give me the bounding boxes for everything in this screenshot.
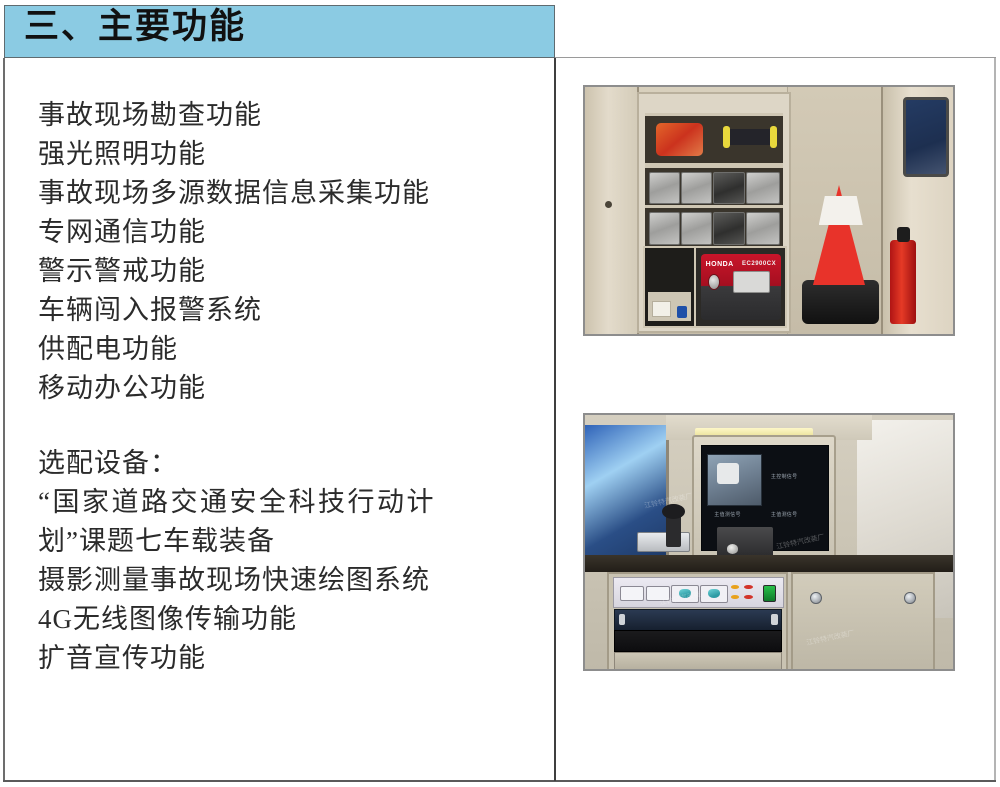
cabinet-shelf-lower [645,205,784,249]
rack-unit-black [614,630,782,651]
storage-cabinet-door [791,572,935,671]
screen-label: 主控制信号 [771,473,798,480]
cabinet-lock[interactable] [904,592,916,605]
function-item: 车辆闯入报警系统 [38,291,538,330]
video-feed-vehicle [717,463,739,484]
equipment-case [713,172,746,204]
frame-line-left [3,58,5,782]
rack-handle [619,614,626,625]
optional-equipment-heading: 选配设备： [38,444,538,483]
screen-label: 主值测信号 [714,511,741,518]
generator-fuel-cap [708,274,720,290]
equipment-case [681,212,712,244]
cabinet-lower-left-bay [643,246,697,328]
video-feed-tile [707,454,762,506]
function-item: 事故现场多源数据信息采集功能 [38,174,538,213]
function-item: 供配电功能 [38,330,538,369]
rack-handle [771,614,778,625]
screen-label: 主值测信号 [771,511,798,518]
slide-root: 三、主要功能 事故现场勘查功能 强光照明功能 事故现场多源数据信息采集功能 专网… [0,0,1000,787]
photo-content: HONDA EC2900CX [585,87,953,334]
status-led [731,585,739,589]
rack-unit-lower [614,652,782,671]
generator-model-label: EC2900CX [742,261,776,267]
blue-power-socket [677,306,686,318]
generator-bay: HONDA EC2900CX [694,246,787,328]
mobile-command-workstation-photo: 主控制信号 主值测信号 主值测信号 [583,413,955,671]
optional-equipment-item: “国家道路交通安全科技行动计 [38,483,538,522]
equipment-case [649,172,680,204]
rack-unit-display [614,609,782,630]
frame-line-top-right [555,57,996,58]
column-divider [554,58,556,781]
equipment-rack-cabinet [607,572,788,671]
function-item: 强光照明功能 [38,135,538,174]
frame-line-right [994,58,996,782]
keyboard-device [637,532,691,552]
microphone [666,512,681,548]
status-led [744,585,752,589]
optional-equipment-item: 扩音宣传功能 [38,639,538,678]
panel-gauge [620,586,644,601]
van-door-left [585,87,639,334]
rotary-switch[interactable] [700,585,727,603]
power-outlet-panel [648,292,691,322]
rotary-switch[interactable] [671,585,698,603]
amplifier-box [717,527,772,557]
photo-content: 主控制信号 主值测信号 主值测信号 [585,415,953,669]
optional-equipment-item: 划”课题七车载装备 [38,522,538,561]
power-switch[interactable] [763,585,777,601]
equipment-cabinet: HONDA EC2900CX [637,92,792,333]
optional-equipment-item: 4G无线图像传输功能 [38,600,538,639]
equipment-case [681,172,712,204]
yellow-roller-tool [725,129,775,145]
generator-brand-label: HONDA [706,261,734,268]
optional-equipment-item: 摄影测量事故现场快速绘图系统 [38,561,538,600]
equipment-case [649,212,680,244]
function-item: 事故现场勘查功能 [38,96,538,135]
status-led [744,595,752,599]
panel-gauge [646,586,670,601]
equipment-case [746,172,780,204]
amplifier-knob [727,544,738,553]
red-equipment-bag [656,123,703,156]
function-item: 专网通信功能 [38,213,538,252]
van-window [903,97,949,177]
function-item: 警示警戒功能 [38,252,538,291]
frame-line-bottom [3,780,996,782]
cabinet-lock[interactable] [810,592,822,605]
desk-surface [585,555,953,573]
page-title: 三、主要功能 [24,8,246,46]
label-card [652,301,671,317]
honda-generator: HONDA EC2900CX [701,254,781,320]
cabinet-shelf-middle [645,165,784,209]
equipment-case [746,212,780,244]
function-item: 移动办公功能 [38,369,538,408]
status-led [731,595,739,599]
fire-extinguisher [890,240,916,324]
traffic-cone-stripe [819,196,863,226]
van-equipment-bay-photo: HONDA EC2900CX [583,85,955,336]
traffic-cone-base [802,280,879,324]
function-list: 事故现场勘查功能 强光照明功能 事故现场多源数据信息采集功能 专网通信功能 警示… [38,96,538,678]
cabinet-shelf-top [645,113,784,166]
control-panel [613,577,785,608]
generator-control-panel [733,271,770,293]
section-spacer [38,408,538,444]
equipment-case [713,212,746,244]
